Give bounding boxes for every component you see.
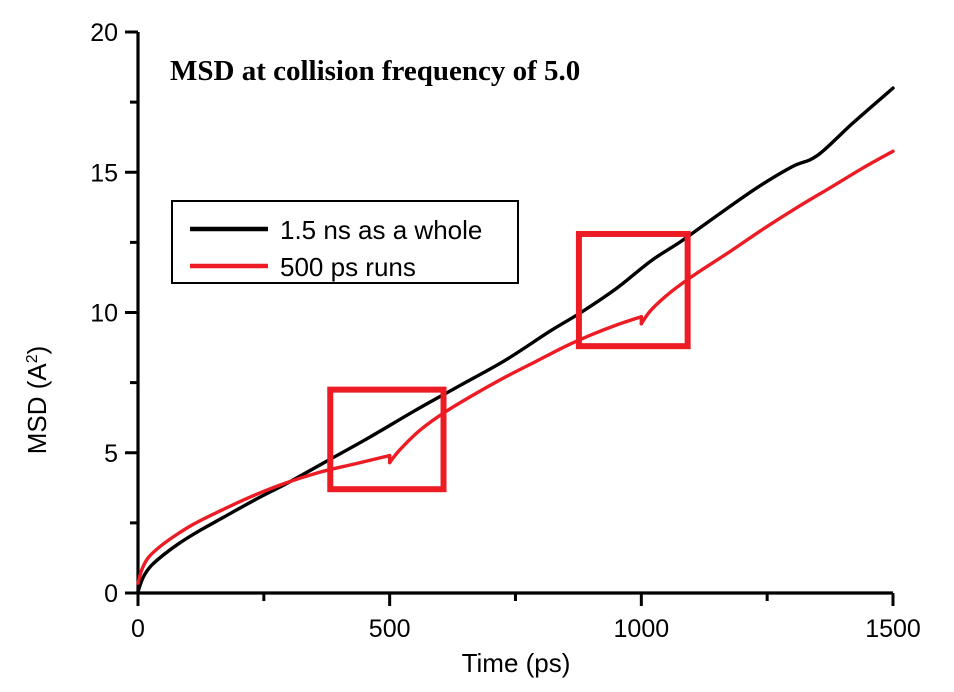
y-axis-title-superscript: 2 — [24, 354, 41, 363]
chart-canvas: 05101520 050010001500 MSD at collision f… — [0, 0, 954, 692]
y-tick-label: 20 — [90, 19, 118, 47]
y-tick-label: 5 — [104, 440, 118, 468]
chart-figure: 05101520 050010001500 MSD at collision f… — [0, 0, 954, 692]
legend[interactable]: 1.5 ns as a whole 500 ps runs — [172, 201, 518, 283]
y-axis-title-close: ) — [22, 346, 52, 355]
plot-background — [0, 0, 954, 692]
x-axis-title: Time (ps) — [462, 648, 571, 678]
chart-title: MSD at collision frequency of 5.0 — [170, 55, 580, 87]
x-tick-label: 1000 — [614, 615, 670, 643]
y-tick-label: 15 — [90, 159, 118, 187]
x-tick-label: 0 — [131, 615, 145, 643]
x-tick-label: 500 — [369, 615, 411, 643]
y-tick-label: 10 — [90, 300, 118, 328]
legend-label-500-ps-runs: 500 ps runs — [280, 252, 416, 282]
y-tick-label: 0 — [104, 580, 118, 608]
y-axis-title-base: MSD (A — [22, 363, 52, 455]
legend-label-1-5-ns-as-a-whole: 1.5 ns as a whole — [280, 215, 482, 245]
x-tick-label: 1500 — [865, 615, 921, 643]
